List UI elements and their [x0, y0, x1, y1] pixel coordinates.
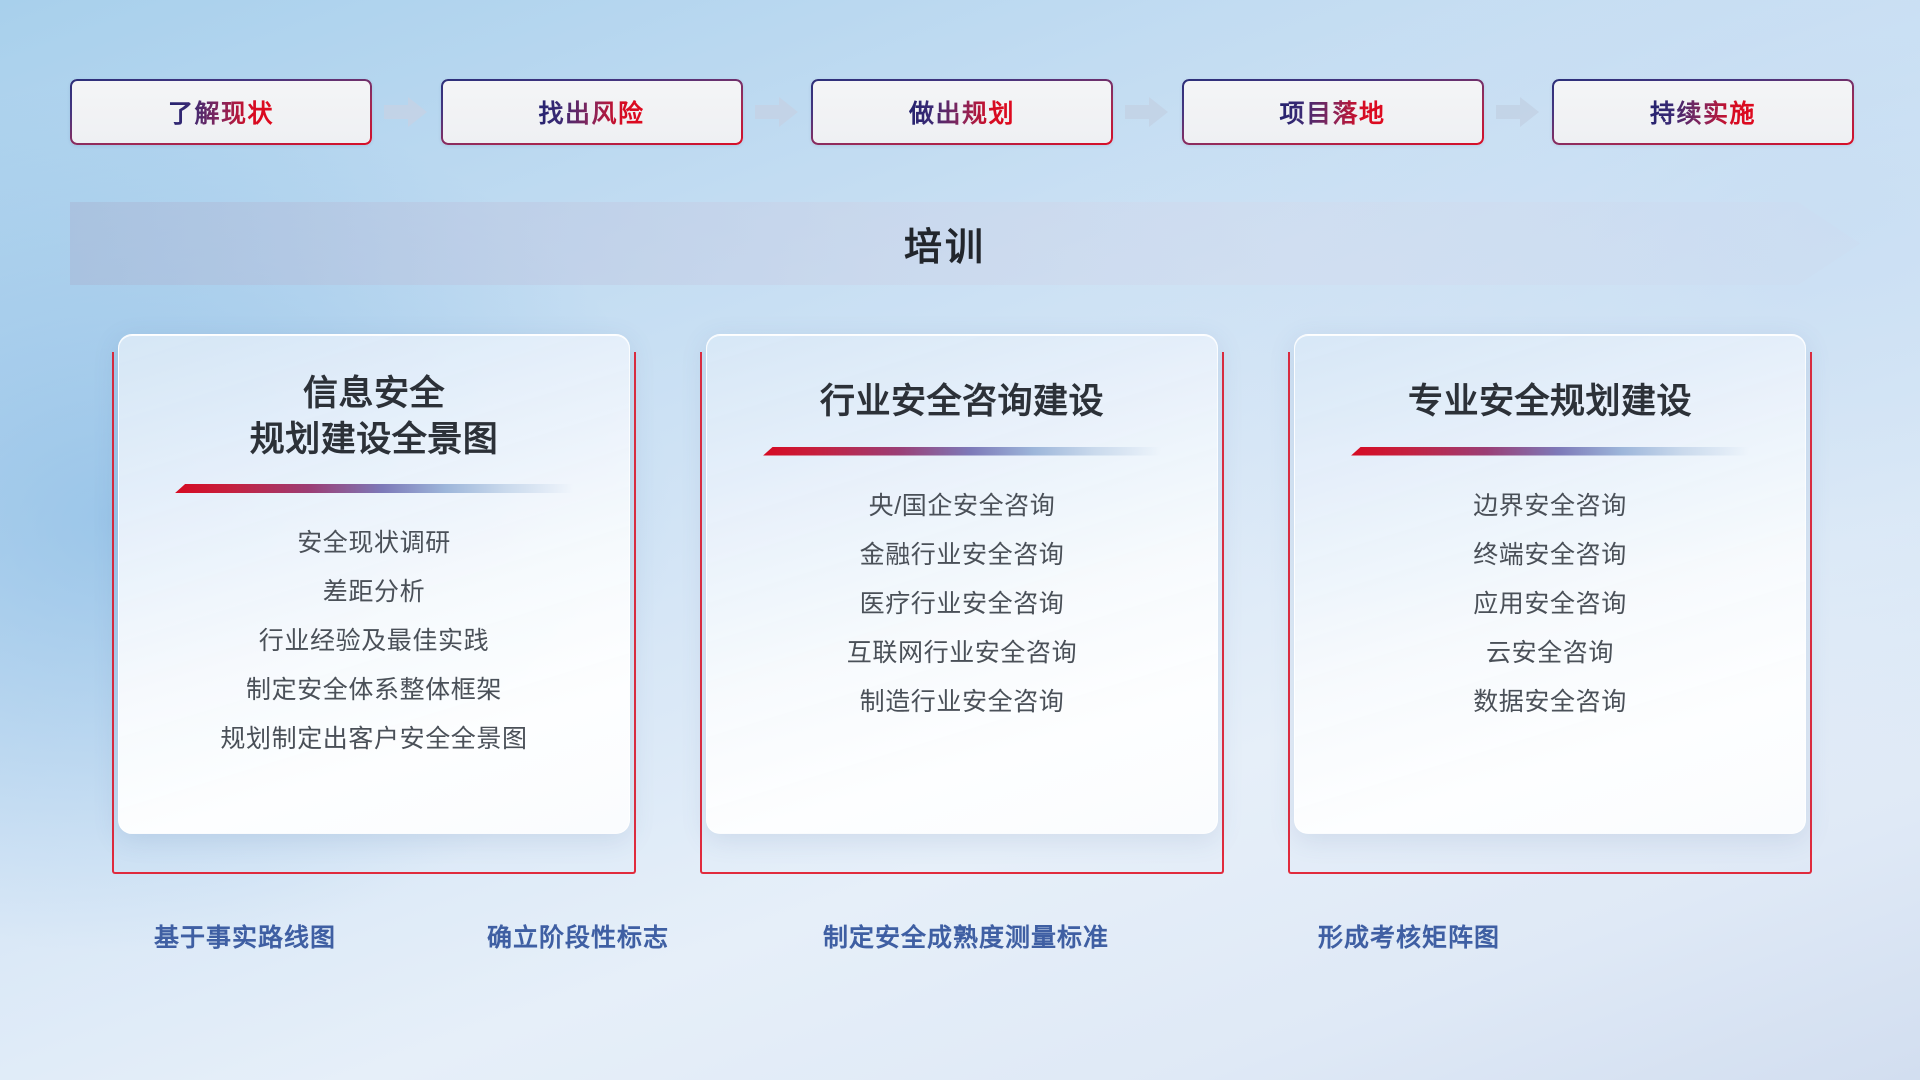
step-arrow-icon-2 [754, 95, 800, 129]
card-title-2: 行业安全咨询建设 [820, 379, 1104, 425]
footer-label-2: 确立阶段性标志 [487, 918, 669, 954]
footer-label-row: 基于事实路线图 确立阶段性标志 制定安全成熟度测量标准 形成考核矩阵图 [0, 918, 1920, 962]
list-item: 边界安全咨询 [1295, 482, 1805, 531]
list-item: 应用安全咨询 [1295, 580, 1805, 629]
card-list-3: 边界安全咨询 终端安全咨询 应用安全咨询 云安全咨询 数据安全咨询 [1295, 482, 1805, 727]
card-divider-3 [1351, 447, 1749, 456]
list-item: 数据安全咨询 [1295, 678, 1805, 727]
footer-label-4: 形成考核矩阵图 [1318, 918, 1500, 954]
process-step-row: 了解现状 找出风险 做出规划 项目落地 [70, 78, 1854, 146]
list-item: 金融行业安全咨询 [707, 531, 1217, 580]
step-label-1: 了解现状 [168, 94, 274, 130]
card-list-1: 安全现状调研 差距分析 行业经验及最佳实践 制定安全体系整体框架 规划制定出客户… [119, 519, 629, 764]
capability-cards-row: 信息安全 规划建设全景图 安全现状调研 差距分析 行业经验及最佳实践 制定安全体… [112, 334, 1812, 874]
list-item: 制定安全体系整体框架 [119, 666, 629, 715]
infographic-canvas: 了解现状 找出风险 做出规划 项目落地 [0, 0, 1920, 1080]
step-box-5[interactable]: 持续实施 [1552, 79, 1854, 145]
list-item: 制造行业安全咨询 [707, 678, 1217, 727]
list-item: 规划制定出客户安全全景图 [119, 715, 629, 764]
training-banner-title: 培训 [70, 202, 1860, 285]
card-title-1: 信息安全 规划建设全景图 [250, 371, 499, 462]
step-arrow-icon-1 [383, 95, 429, 129]
step-label-5: 持续实施 [1650, 94, 1756, 130]
list-item: 互联网行业安全咨询 [707, 629, 1217, 678]
step-arrow-icon-3 [1124, 95, 1170, 129]
step-arrow-icon-4 [1495, 95, 1541, 129]
footer-label-1: 基于事实路线图 [154, 918, 336, 954]
list-item: 医疗行业安全咨询 [707, 580, 1217, 629]
card-divider-1 [175, 484, 573, 493]
step-label-3: 做出规划 [909, 94, 1015, 130]
capability-card-1[interactable]: 信息安全 规划建设全景图 安全现状调研 差距分析 行业经验及最佳实践 制定安全体… [112, 334, 636, 874]
training-banner: 培训 [70, 202, 1860, 285]
card-divider-2 [763, 447, 1161, 456]
footer-label-3: 制定安全成熟度测量标准 [823, 918, 1109, 954]
card-panel-1: 信息安全 规划建设全景图 安全现状调研 差距分析 行业经验及最佳实践 制定安全体… [118, 334, 630, 834]
list-item: 终端安全咨询 [1295, 531, 1805, 580]
card-panel-3: 专业安全规划建设 边界安全咨询 终端安全咨询 应用安全咨询 云安全咨询 数据安全… [1294, 334, 1806, 834]
list-item: 安全现状调研 [119, 519, 629, 568]
step-box-2[interactable]: 找出风险 [441, 79, 743, 145]
step-box-4[interactable]: 项目落地 [1182, 79, 1484, 145]
card-list-2: 央/国企安全咨询 金融行业安全咨询 医疗行业安全咨询 互联网行业安全咨询 制造行… [707, 482, 1217, 727]
step-label-2: 找出风险 [538, 94, 644, 130]
capability-card-3[interactable]: 专业安全规划建设 边界安全咨询 终端安全咨询 应用安全咨询 云安全咨询 数据安全… [1288, 334, 1812, 874]
list-item: 云安全咨询 [1295, 629, 1805, 678]
list-item: 行业经验及最佳实践 [119, 617, 629, 666]
capability-card-2[interactable]: 行业安全咨询建设 央/国企安全咨询 金融行业安全咨询 医疗行业安全咨询 互联网行… [700, 334, 1224, 874]
step-box-1[interactable]: 了解现状 [70, 79, 372, 145]
card-title-3: 专业安全规划建设 [1408, 379, 1692, 425]
step-label-4: 项目落地 [1279, 94, 1385, 130]
list-item: 差距分析 [119, 568, 629, 617]
card-panel-2: 行业安全咨询建设 央/国企安全咨询 金融行业安全咨询 医疗行业安全咨询 互联网行… [706, 334, 1218, 834]
list-item: 央/国企安全咨询 [707, 482, 1217, 531]
step-box-3[interactable]: 做出规划 [811, 79, 1113, 145]
